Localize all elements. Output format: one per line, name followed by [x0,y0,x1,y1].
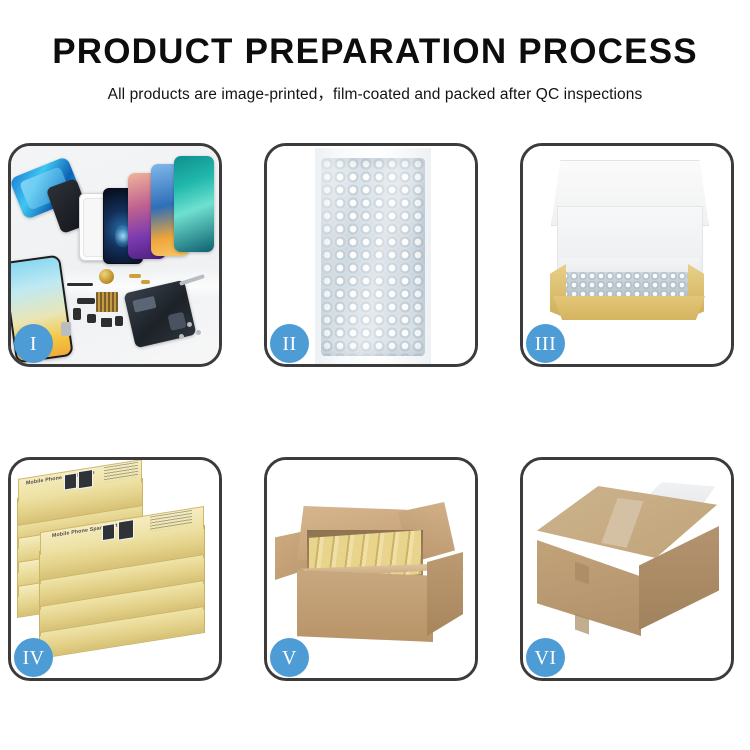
carton-front-face [537,540,641,636]
bubble-wrapped-contents-icon [561,272,697,298]
process-step-panel-2: II [264,143,478,367]
motherboard-icon [123,280,196,349]
step-numeral: V [282,648,297,668]
grid-connector-part-icon [96,292,118,312]
step-numeral: IV [22,648,44,668]
step-badge-5: V [270,638,309,677]
teal-phone-icon [174,156,214,252]
process-step-panel-1: I [8,143,222,367]
screw-part-icon [187,322,192,327]
process-step-panel-6: VI [520,457,734,681]
retail-box-product-image [64,472,77,490]
sim-tray-part-icon [61,322,71,336]
camera-module-part-icon [77,298,95,304]
process-step-panel-5: V [264,457,478,681]
vibrator-part-icon [115,316,123,326]
step-badge-4: IV [14,638,53,677]
speaker-coin-part-icon [99,269,114,284]
step-badge-6: VI [526,638,565,677]
small-connector-part-icon [73,308,81,320]
retail-box-product-image [78,469,93,489]
step-numeral: III [535,334,556,354]
plastic-sheen-overlay [321,158,425,356]
carton-front-face [297,570,433,642]
step-numeral: I [30,334,37,354]
flex-strip-part-icon [67,283,93,286]
product-preparation-infographic: PRODUCT PREPARATION PROCESS All products… [0,0,750,750]
page-title: PRODUCT PREPARATION PROCESS [0,34,750,71]
box-front-wall [553,296,705,320]
step-numeral: VI [534,648,556,668]
step-badge-1: I [14,324,53,363]
retail-box-product-image [102,523,115,541]
process-step-panel-3: III [520,143,734,367]
screw-part-icon [179,334,184,339]
step-badge-3: III [526,324,565,363]
gold-button-part-icon [141,280,150,284]
step-badge-2: II [270,324,309,363]
carton-side-face [427,552,463,636]
gold-flex-part-icon [129,274,141,278]
retail-box-product-image [118,519,134,541]
battery-connector-part-icon [101,318,112,327]
step-numeral: II [282,334,296,354]
process-steps-grid: I II I [8,143,734,681]
header: PRODUCT PREPARATION PROCESS All products… [0,0,750,104]
process-step-panel-4: Mobile Phone Spare Parts Mobile Phone Sp… [8,457,222,681]
screw-part-icon [196,330,201,335]
page-subtitle: All products are image-printed，film-coat… [0,82,750,104]
chip-part-icon [87,314,96,323]
